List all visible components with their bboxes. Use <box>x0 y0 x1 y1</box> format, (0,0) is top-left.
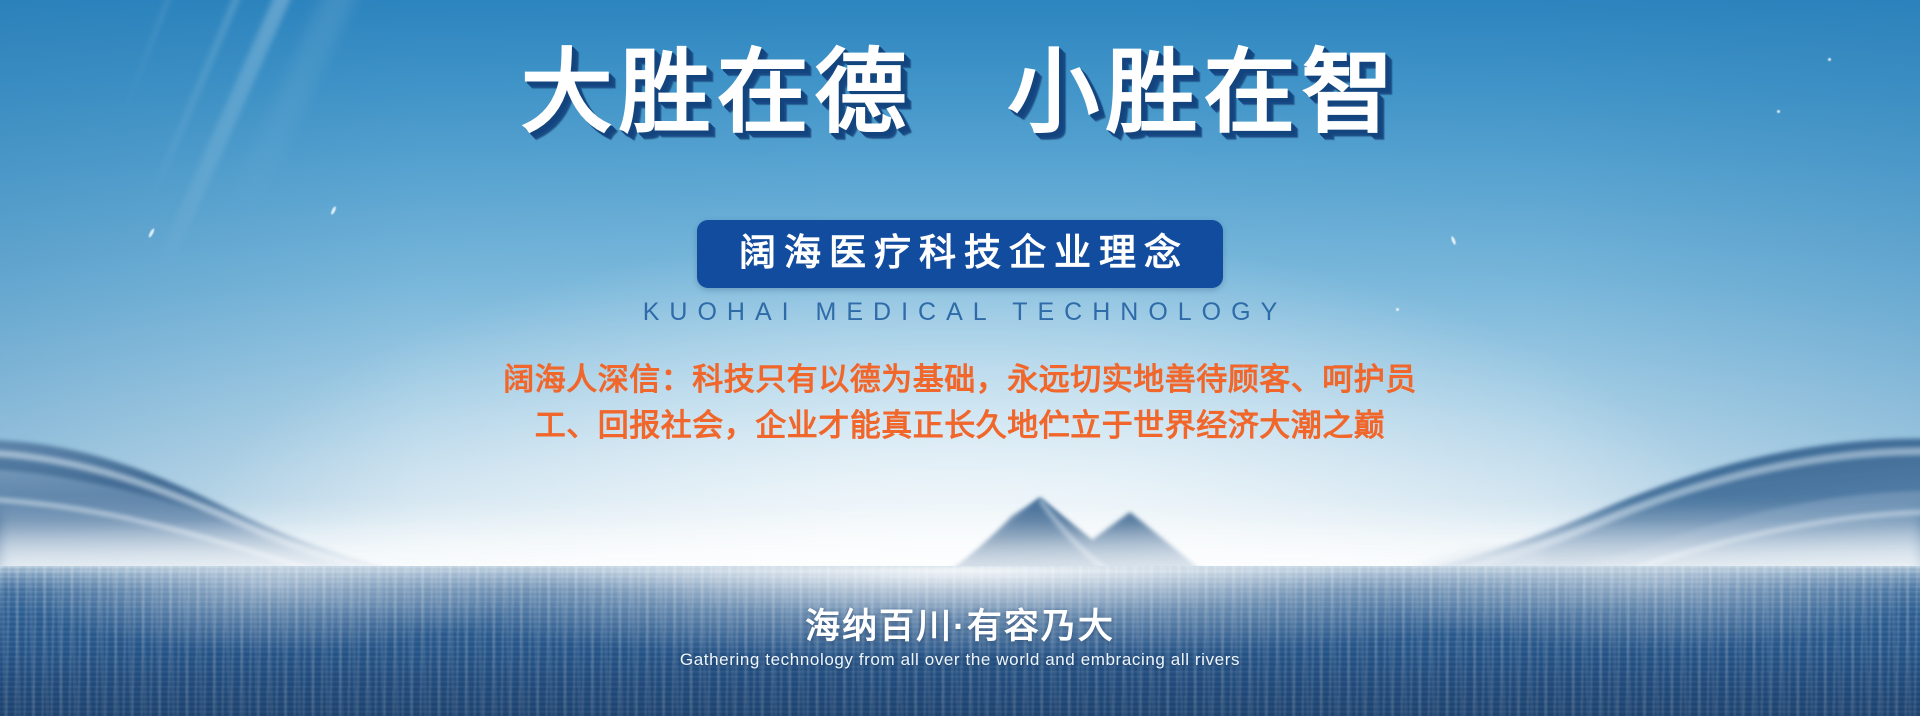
paragraph-line: 阔海人深信：科技只有以德为基础，永远切实地善待顾客、呵护员 <box>0 357 1920 403</box>
paragraph-line: 工、回报社会，企业才能真正长久地伫立于世界经济大潮之巅 <box>0 403 1920 449</box>
hero-banner: 大胜在德 小胜在智 阔海医疗科技企业理念 KUOHAI MEDICAL TECH… <box>0 0 1920 716</box>
page-title: 大胜在德 小胜在智 <box>0 44 1920 143</box>
concept-badge-wrap: 阔海医疗科技企业理念 <box>0 220 1920 288</box>
footer-slogan-cn: 海纳百川·有容乃大 <box>0 598 1920 649</box>
banner-content: 大胜在德 小胜在智 阔海医疗科技企业理念 KUOHAI MEDICAL TECH… <box>0 0 1920 716</box>
subtitle-english: KUOHAI MEDICAL TECHNOLOGY <box>0 298 1920 327</box>
philosophy-paragraph: 阔海人深信：科技只有以德为基础，永远切实地善待顾客、呵护员 工、回报社会，企业才… <box>0 357 1920 449</box>
status-badge: 阔海医疗科技企业理念 <box>697 220 1223 288</box>
footer-slogan-en: Gathering technology from all over the w… <box>0 650 1920 670</box>
